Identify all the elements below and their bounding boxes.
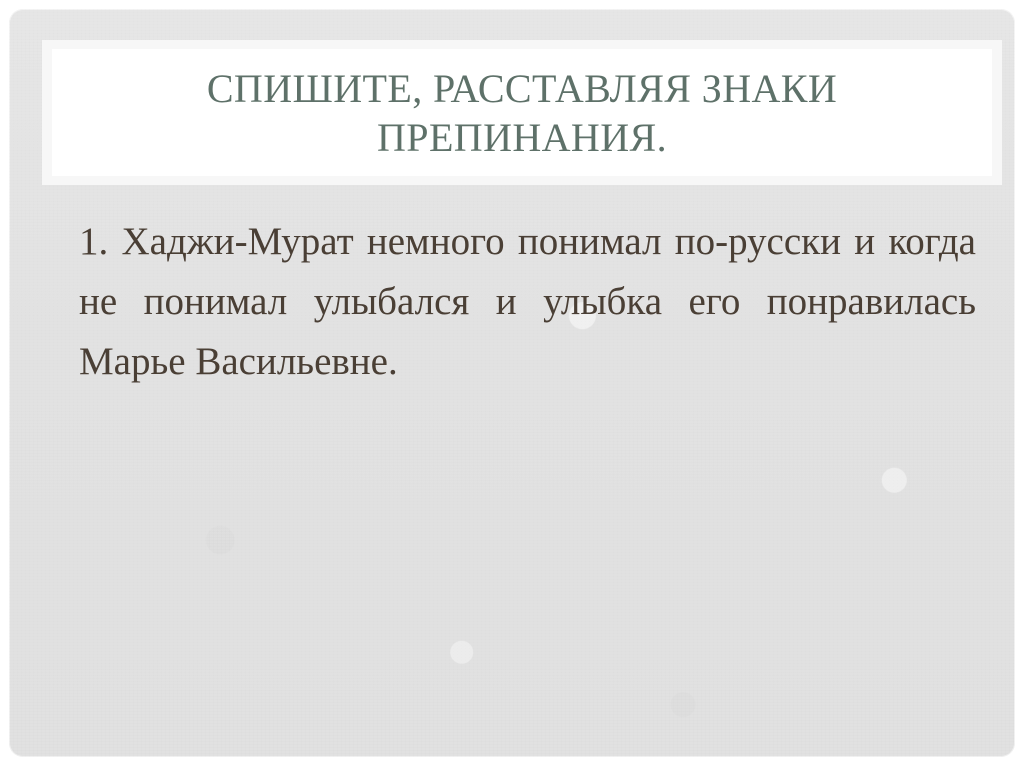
slide-frame: Спишите, расставляя знаки препинания. 1.…: [9, 9, 1015, 757]
body-paragraph: 1. Хаджи-Мурат немного понимал по-русски…: [79, 212, 976, 392]
page-title: Спишите, расставляя знаки препинания.: [127, 64, 917, 162]
title-placeholder[interactable]: Спишите, расставляя знаки препинания.: [42, 40, 1002, 185]
body-placeholder[interactable]: 1. Хаджи-Мурат немного понимал по-русски…: [79, 212, 976, 392]
slide-stage: Спишите, расставляя знаки препинания. 1.…: [0, 0, 1024, 767]
title-placeholder-inner: Спишите, расставляя знаки препинания.: [52, 49, 992, 176]
